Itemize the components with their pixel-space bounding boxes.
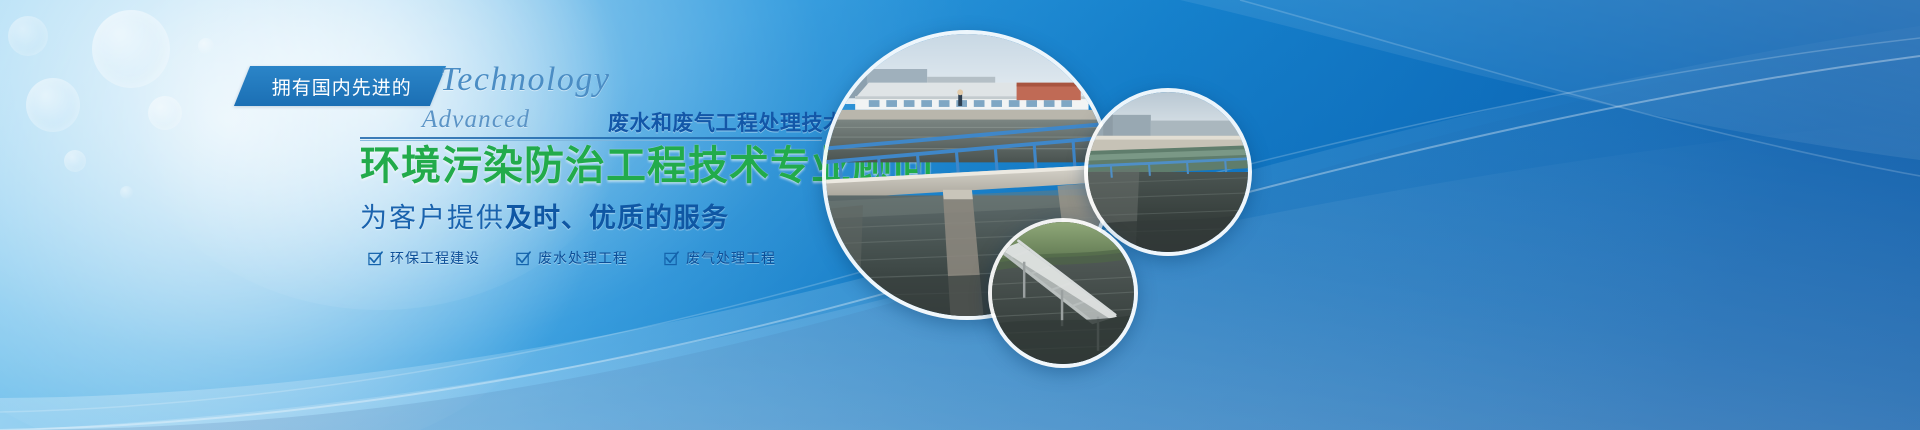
hero-banner: 拥有国内先进的 Technology Advanced 废水和废气工程处理技术 …	[0, 0, 1920, 430]
photo-collage	[0, 0, 1920, 430]
aeration-walkway-photo	[988, 218, 1138, 368]
walkway-photo-art	[992, 222, 1134, 364]
